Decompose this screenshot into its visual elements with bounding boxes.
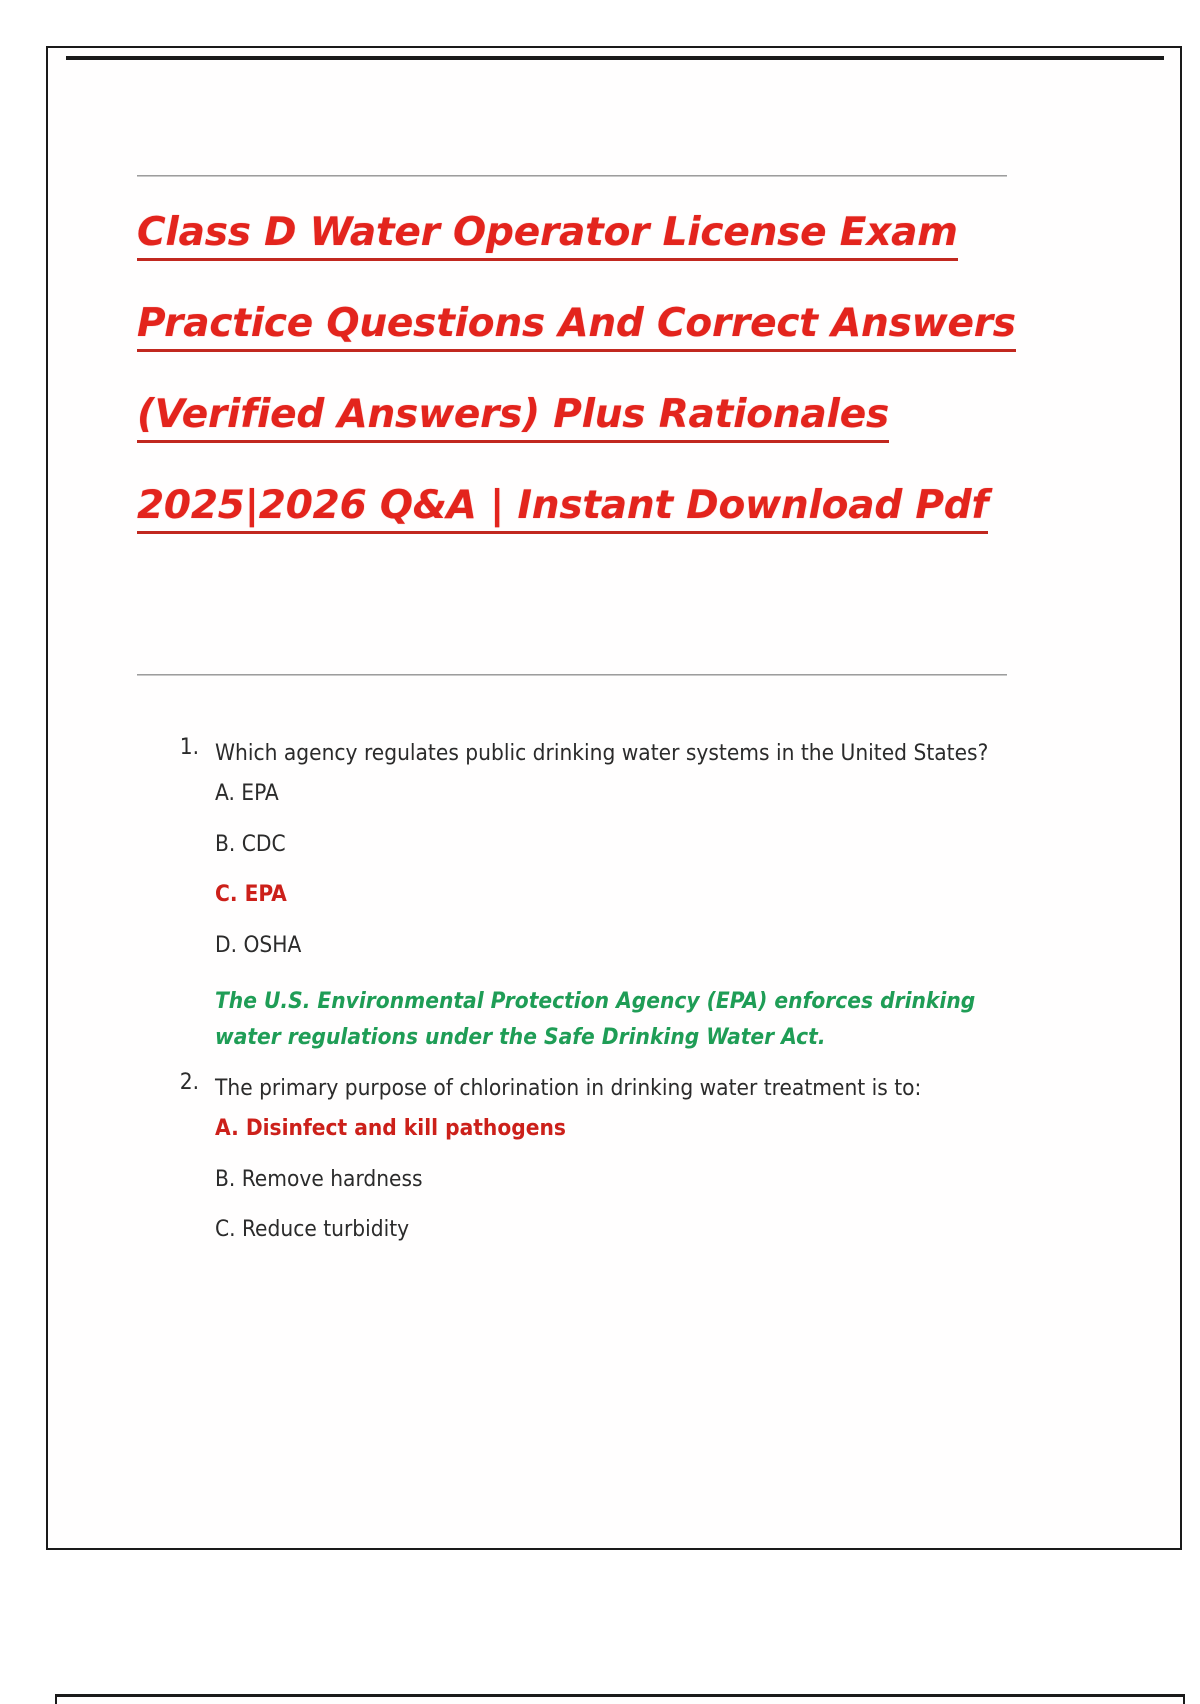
answer-option[interactable]: A. EPA — [215, 782, 1005, 805]
page-top-rule — [66, 56, 1164, 60]
question-stem: Which agency regulates public drinking w… — [215, 736, 1005, 770]
answer-option[interactable]: B. CDC — [215, 833, 1005, 856]
answer-option-correct[interactable]: C. EPA — [215, 883, 1005, 906]
answer-option-correct[interactable]: A. Disinfect and kill pathogens — [215, 1117, 1005, 1140]
title-line-4: 2025|2026 Q&A | Instant Download Pdf — [137, 486, 1017, 525]
question-body: The primary purpose of chlorination in d… — [215, 1071, 1005, 1241]
page-title: Class D Water Operator License Exam Prac… — [137, 213, 1017, 577]
answer-option[interactable]: C. Reduce turbidity — [215, 1218, 1005, 1241]
answer-option[interactable]: D. OSHA — [215, 934, 1005, 957]
title-line-2: Practice Questions And Correct Answers — [137, 304, 1017, 343]
question-list: 1. Which agency regulates public drinkin… — [165, 736, 1005, 1269]
question-number: 1. — [165, 736, 199, 759]
question-item: 2. The primary purpose of chlorination i… — [165, 1071, 1005, 1241]
title-divider-bottom — [137, 674, 1007, 676]
answer-option[interactable]: B. Remove hardness — [215, 1168, 1005, 1191]
question-body: Which agency regulates public drinking w… — [215, 736, 1005, 1055]
title-divider-top — [137, 175, 1007, 177]
question-spacer — [165, 1061, 1005, 1071]
next-document-page — [55, 1694, 1185, 1704]
question-number: 2. — [165, 1071, 199, 1094]
question-stem: The primary purpose of chlorination in d… — [215, 1071, 1005, 1105]
document-page: Class D Water Operator License Exam Prac… — [46, 46, 1182, 1550]
question-item: 1. Which agency regulates public drinkin… — [165, 736, 1005, 1055]
answer-rationale: The U.S. Environmental Protection Agency… — [215, 984, 1005, 1055]
title-line-1: Class D Water Operator License Exam — [137, 213, 1017, 252]
title-line-3: (Verified Answers) Plus Rationales — [137, 395, 1017, 434]
